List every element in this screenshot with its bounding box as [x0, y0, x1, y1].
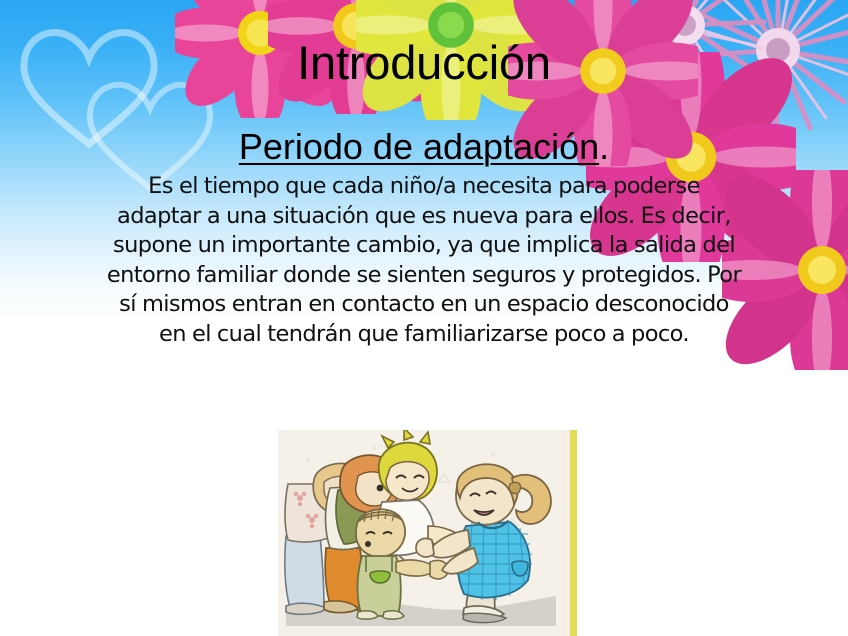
family-farewell-illustration	[278, 430, 577, 636]
slide-title: Introducción	[0, 38, 848, 87]
slide-body-paragraph: Es el tiempo que cada niño/a necesita pa…	[104, 172, 744, 349]
slide-subtitle-underlined-text: Periodo de adaptación	[239, 126, 599, 167]
slide-subtitle-period: .	[599, 126, 609, 167]
slide-subtitle: Periodo de adaptación.	[0, 128, 848, 166]
presentation-slide: Introducción Periodo de adaptación. Es e…	[0, 0, 848, 636]
